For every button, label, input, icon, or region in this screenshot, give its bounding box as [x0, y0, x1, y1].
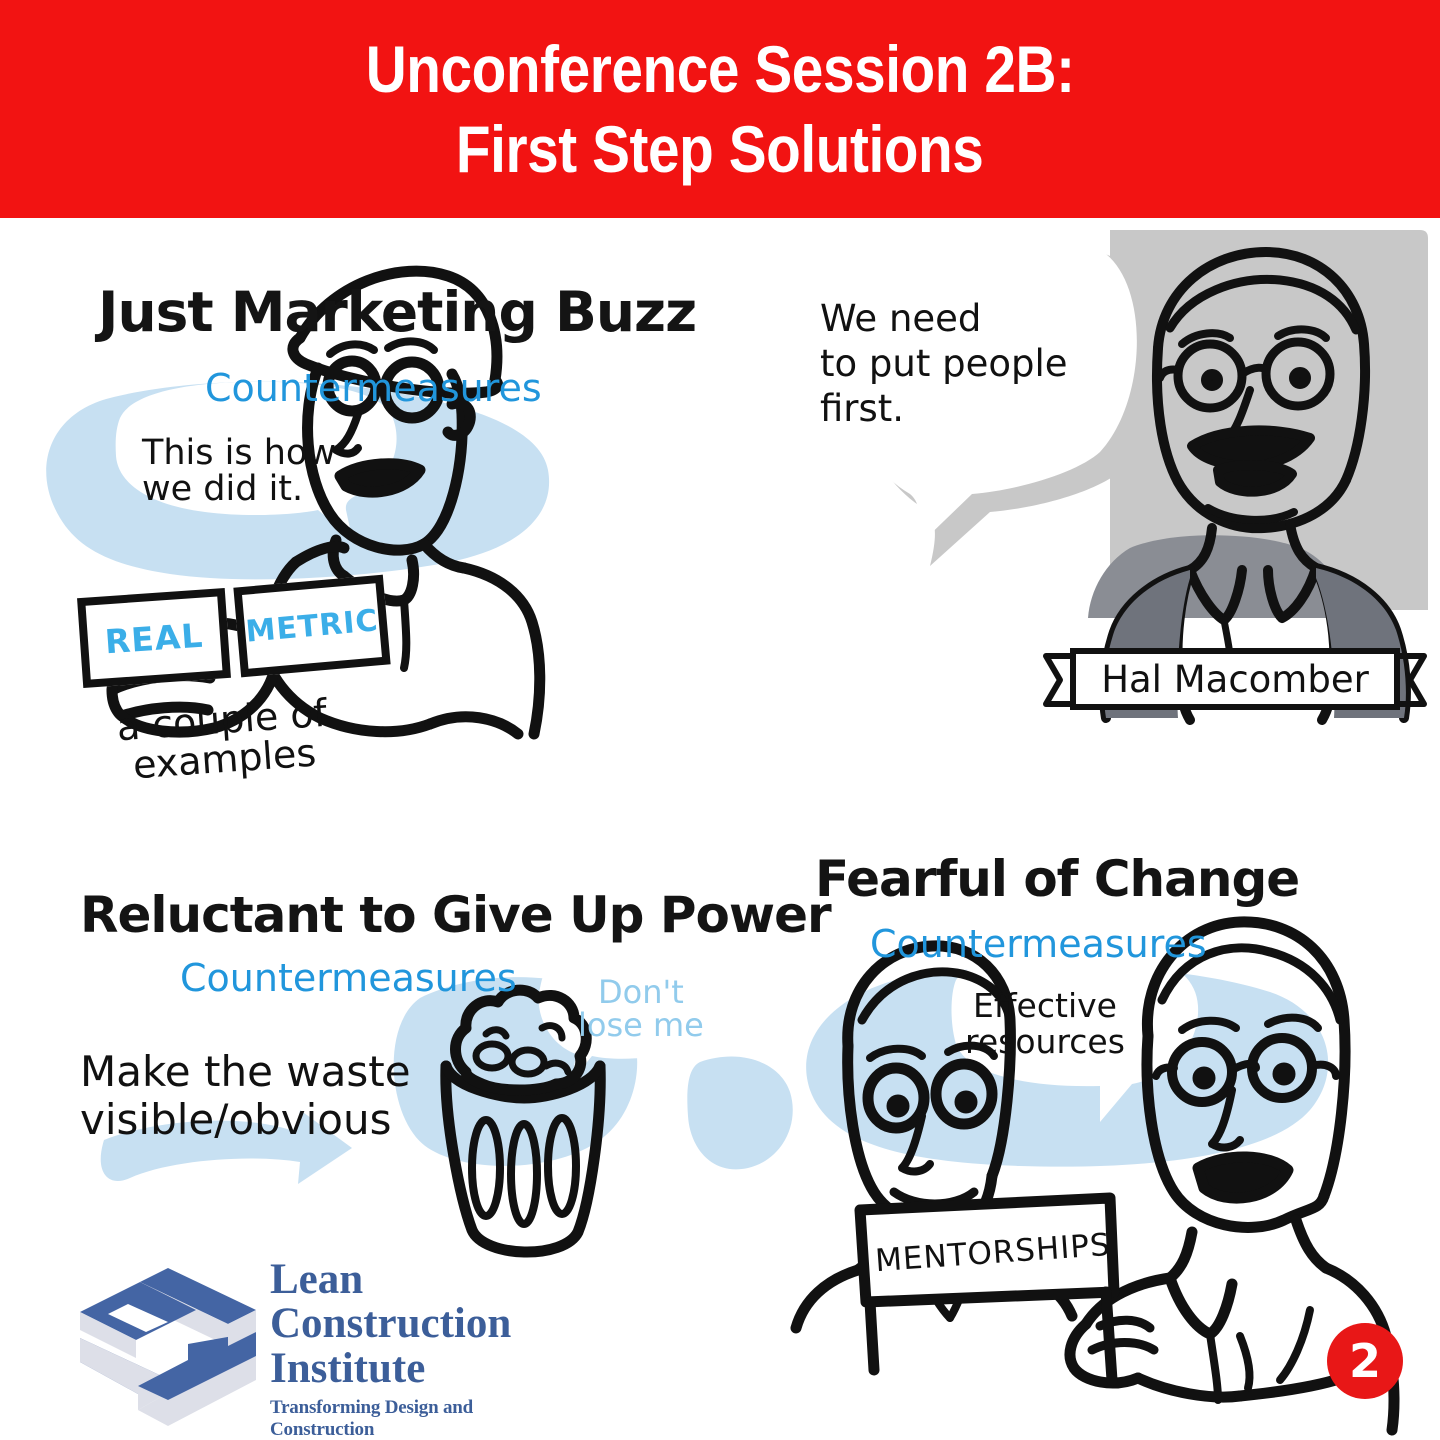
pupil-right-2: [1278, 1068, 1290, 1080]
card-real-label: REAL: [103, 615, 204, 661]
header-title-line-1: Unconference Session 2B:: [366, 36, 1075, 102]
sleeve-seam: [1240, 1336, 1250, 1388]
panel-just-marketing-buzz: Just Marketing Buzz Countermeasures This…: [0, 218, 770, 848]
speech-bubble-text-this-is-how: This is how we did it.: [142, 436, 336, 507]
hal-speech-bubble-text: We need to put people first.: [820, 296, 1068, 431]
panel-title-fearful-of-change: Fearful of Change: [815, 850, 1299, 908]
panel-subtitle-countermeasures-3: Countermeasures: [870, 922, 1207, 966]
page-number-badge: 2: [1327, 1323, 1403, 1399]
neck-right-2: [1296, 1220, 1326, 1268]
collar-right-1: [1170, 1278, 1232, 1334]
panel-subtitle-countermeasures-2: Countermeasures: [180, 956, 517, 1000]
pupil-left: [1206, 374, 1218, 386]
sign-post-right: [1106, 1292, 1112, 1380]
neck-right-1: [1170, 1232, 1192, 1278]
card-metric-label: METRIC: [244, 603, 380, 649]
shoulder-left-1: [796, 1270, 858, 1328]
panel-title-reluctant-power: Reluctant to Give Up Power: [80, 886, 831, 944]
speech-bubble-text-effective-resources: Effective resources: [965, 988, 1125, 1059]
shirt-placket: [404, 600, 406, 668]
statement-make-the-waste-visible: Make the waste visible/obvious: [80, 1048, 411, 1145]
mouth: [1218, 465, 1292, 492]
mouth-right: [1198, 1157, 1288, 1198]
panel-subtitle-countermeasures-1: Countermeasures: [205, 366, 542, 410]
pupil-right: [1294, 372, 1306, 384]
arm-cross: [1240, 1378, 1342, 1396]
lci-word-construction: Construction: [270, 1302, 578, 1346]
mouth: [340, 464, 420, 492]
lci-logo-mark: [78, 1260, 258, 1435]
poster-canvas: Unconference Session 2B: First Step Solu…: [0, 0, 1440, 1440]
caption-a-couple-of-examples: a couple of examples: [116, 694, 331, 786]
sign-post-left: [870, 1302, 874, 1370]
lci-word-institute: Institute: [270, 1347, 578, 1391]
lci-word-lean: Lean: [270, 1258, 578, 1302]
placket-right: [1210, 1334, 1218, 1400]
card-metric: METRIC: [233, 575, 390, 678]
shoulder-right: [464, 568, 540, 734]
card-real: REAL: [77, 588, 231, 688]
eyebrow-left: [330, 344, 374, 354]
lci-logo: Lean Construction Institute Transforming…: [78, 1252, 578, 1432]
bin-bubble-text-dont-lose-me: Don't lose me: [578, 976, 704, 1041]
panel-title-marketing-buzz: Just Marketing Buzz: [98, 280, 696, 344]
pupil-right-1: [1198, 1072, 1210, 1084]
pupil-left-2: [960, 1096, 972, 1108]
page-number-label: 2: [1349, 1334, 1381, 1388]
mentorships-sign: [860, 1198, 1114, 1380]
header-band: Unconference Session 2B: First Step Solu…: [0, 0, 1440, 218]
hal-nameplate: Hal Macomber: [1070, 648, 1400, 710]
panel-hal-macomber: We need to put people first. Hal Macombe…: [780, 218, 1440, 778]
hal-nameplate-label: Hal Macomber: [1101, 658, 1369, 701]
lci-tagline: Transforming Design and Construction: [270, 1397, 578, 1440]
shirt-fold: [1280, 1310, 1310, 1380]
forearm-right: [1138, 1378, 1240, 1397]
lci-wordmark: Lean Construction Institute Transforming…: [270, 1258, 578, 1440]
ribbon-tail-left: [1046, 656, 1070, 704]
finger-mid: [1092, 1343, 1154, 1351]
pupil-left-1: [892, 1100, 904, 1112]
body-bottom: [430, 717, 518, 734]
header-title-line-2: First Step Solutions: [456, 116, 983, 182]
